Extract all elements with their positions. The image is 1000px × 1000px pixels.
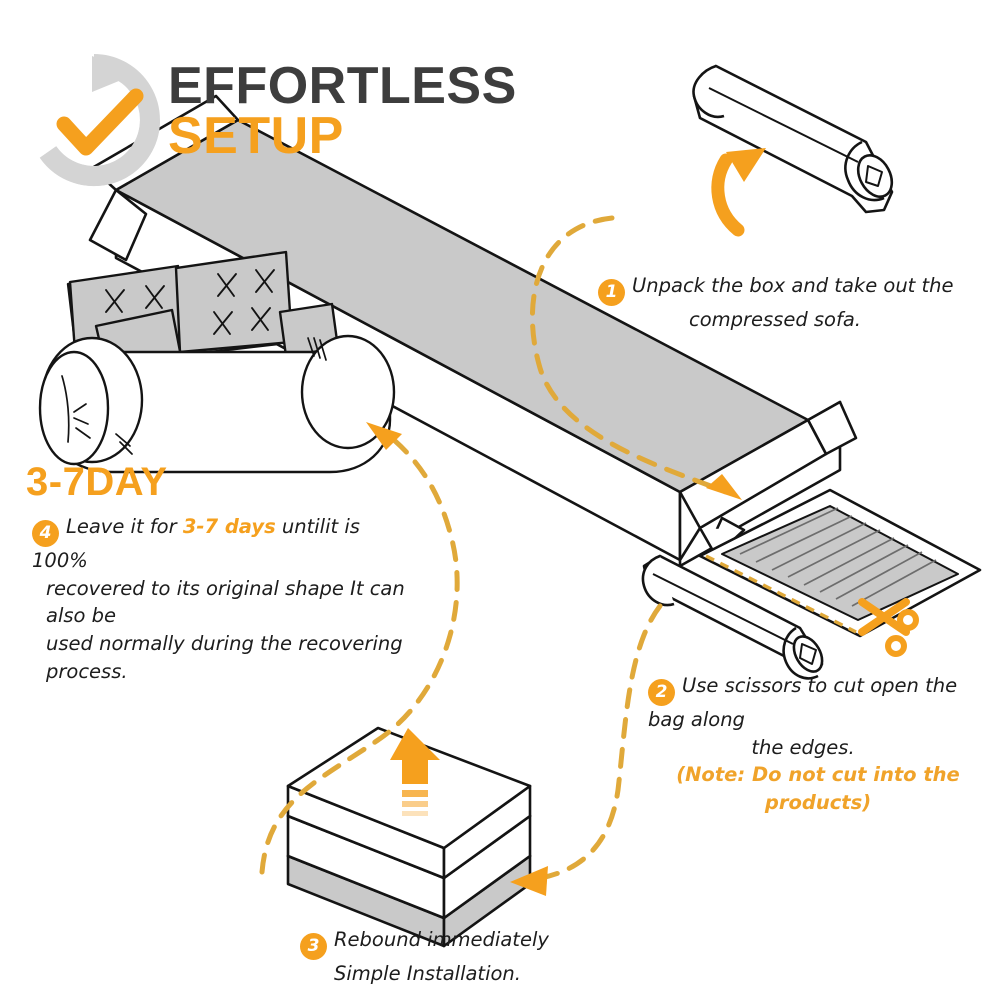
connector-arrowhead-2 — [510, 866, 548, 896]
step-4-caption: 4Leave it for 3-7 days untilit is 100% r… — [32, 513, 412, 685]
step-3-badge: 3 — [300, 933, 327, 960]
step-3-caption: 3Rebound immediately Simple Installation… — [300, 926, 570, 988]
page-title: EFFORTLESS SETUP — [168, 62, 588, 162]
step-3-line-2: Simple Installation. — [300, 960, 570, 988]
step-1-line-2: compressed sofa. — [598, 306, 988, 334]
step-4-line-2: recovered to its original shape It can a… — [32, 575, 412, 630]
connector-1-to-2 — [532, 218, 726, 492]
connector-2-to-3 — [528, 606, 660, 880]
step-2-caption: 2Use scissors to cut open the bag along … — [648, 672, 988, 817]
infographic-canvas: EFFORTLESS SETUP 3-7DAY 1Unpack the box … — [0, 0, 1000, 1000]
title-line-setup: SETUP — [168, 112, 588, 162]
step-2-badge: 2 — [648, 679, 675, 706]
title-line-effortless: EFFORTLESS — [168, 62, 588, 112]
day-heading: 3-7DAY — [26, 460, 168, 505]
step-1-caption: 1Unpack the box and take out the compres… — [598, 272, 988, 334]
step-1-badge: 1 — [598, 279, 625, 306]
step-4-line-1-prefix: Leave it for — [66, 515, 183, 538]
step-4-highlight: 3-7 days — [183, 515, 276, 538]
step-2-note: (Note: Do not cut into the products) — [648, 761, 988, 816]
circular-arrow-check-icon — [24, 52, 164, 188]
step-4-badge: 4 — [32, 520, 59, 547]
connector-arrowhead-3 — [366, 422, 402, 450]
step-1-line-1: Unpack the box and take out the — [632, 274, 954, 297]
step-3-line-1: Rebound immediately — [334, 928, 549, 951]
step-2-line-2: the edges. — [648, 734, 988, 762]
step-4-line-3: used normally during the recovering proc… — [32, 630, 412, 685]
step-2-line-1: Use scissors to cut open the bag along — [648, 674, 957, 731]
connector-arrowhead-1 — [706, 474, 742, 500]
